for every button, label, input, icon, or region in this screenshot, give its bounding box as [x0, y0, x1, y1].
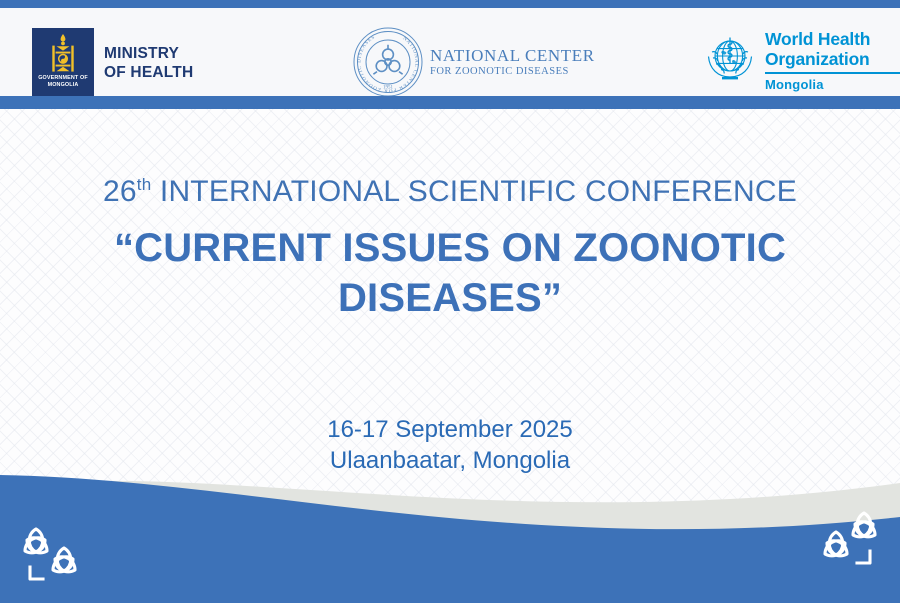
conference-theme-line1: “CURRENT ISSUES ON ZOONOTIC: [70, 223, 830, 273]
wave-blue-layer: [0, 475, 900, 603]
who-divider: [765, 72, 900, 74]
emblem-caption: GOVERNMENT OF MONGOLIA: [32, 75, 94, 89]
ornament-knot-right: [810, 507, 886, 569]
who-wordmark: World Health Organization Mongolia: [765, 30, 900, 92]
logo-header-band: GOVERNMENT OF MONGOLIA MINISTRY OF HEALT…: [0, 8, 900, 96]
footer-wave-decoration: [0, 473, 900, 603]
svg-text:1951: 1951: [383, 86, 394, 91]
national-center-name-line1: NATIONAL CENTER: [430, 46, 595, 65]
who-country-label: Mongolia: [765, 77, 900, 92]
event-location: Ulaanbaatar, Mongolia: [0, 445, 900, 476]
event-date: 16-17 September 2025: [0, 414, 900, 445]
ornament-knot-left: [14, 523, 90, 585]
who-name-line1: World Health: [765, 30, 900, 50]
national-center-name: NATIONAL CENTER FOR ZOONOTIC DISEASES: [430, 46, 595, 78]
mongolia-government-emblem: GOVERNMENT OF MONGOLIA: [32, 28, 94, 98]
who-emblem-icon: [702, 30, 758, 86]
zoonotic-seal-icon: NATIONAL CENTER FOR ZOONOTIC DISEASES 19…: [352, 26, 424, 98]
who-name-line2: Organization: [765, 50, 900, 70]
ministry-name-line2: OF HEALTH: [104, 63, 193, 82]
soyombo-icon: [43, 32, 83, 80]
who-mongolia-logo: World Health Organization Mongolia: [702, 30, 900, 92]
national-center-name-line2: FOR ZOONOTIC DISEASES: [430, 65, 595, 78]
mongolian-ulzii-knot-icon: [14, 523, 90, 585]
national-center-zoonotic-diseases-logo: NATIONAL CENTER FOR ZOONOTIC DISEASES 19…: [352, 26, 595, 98]
conference-ordinal-suffix: th: [137, 175, 152, 194]
top-accent-bar: [0, 0, 900, 8]
event-details: 16-17 September 2025 Ulaanbaatar, Mongol…: [0, 414, 900, 476]
conference-title-slide: GOVERNMENT OF MONGOLIA MINISTRY OF HEALT…: [0, 0, 900, 603]
emblem-caption-line2: MONGOLIA: [32, 82, 94, 89]
ministry-of-health-name: MINISTRY OF HEALTH: [104, 44, 193, 82]
conference-theme-line2: DISEASES”: [70, 273, 830, 323]
conference-number-line: 26th INTERNATIONAL SCIENTIFIC CONFERENCE: [0, 173, 900, 211]
headline-block: 26th INTERNATIONAL SCIENTIFIC CONFERENCE…: [0, 173, 900, 323]
conference-number: 26: [103, 175, 137, 208]
emblem-caption-line1: GOVERNMENT OF: [32, 75, 94, 82]
conference-title-text: INTERNATIONAL SCIENTIFIC CONFERENCE: [151, 175, 797, 208]
ministry-name-line1: MINISTRY: [104, 44, 193, 63]
header-accent-bar: [0, 96, 900, 109]
conference-theme: “CURRENT ISSUES ON ZOONOTIC DISEASES”: [0, 223, 900, 323]
mongolian-ulzii-knot-icon: [810, 507, 886, 569]
ministry-of-health-logo: GOVERNMENT OF MONGOLIA MINISTRY OF HEALT…: [32, 28, 193, 98]
